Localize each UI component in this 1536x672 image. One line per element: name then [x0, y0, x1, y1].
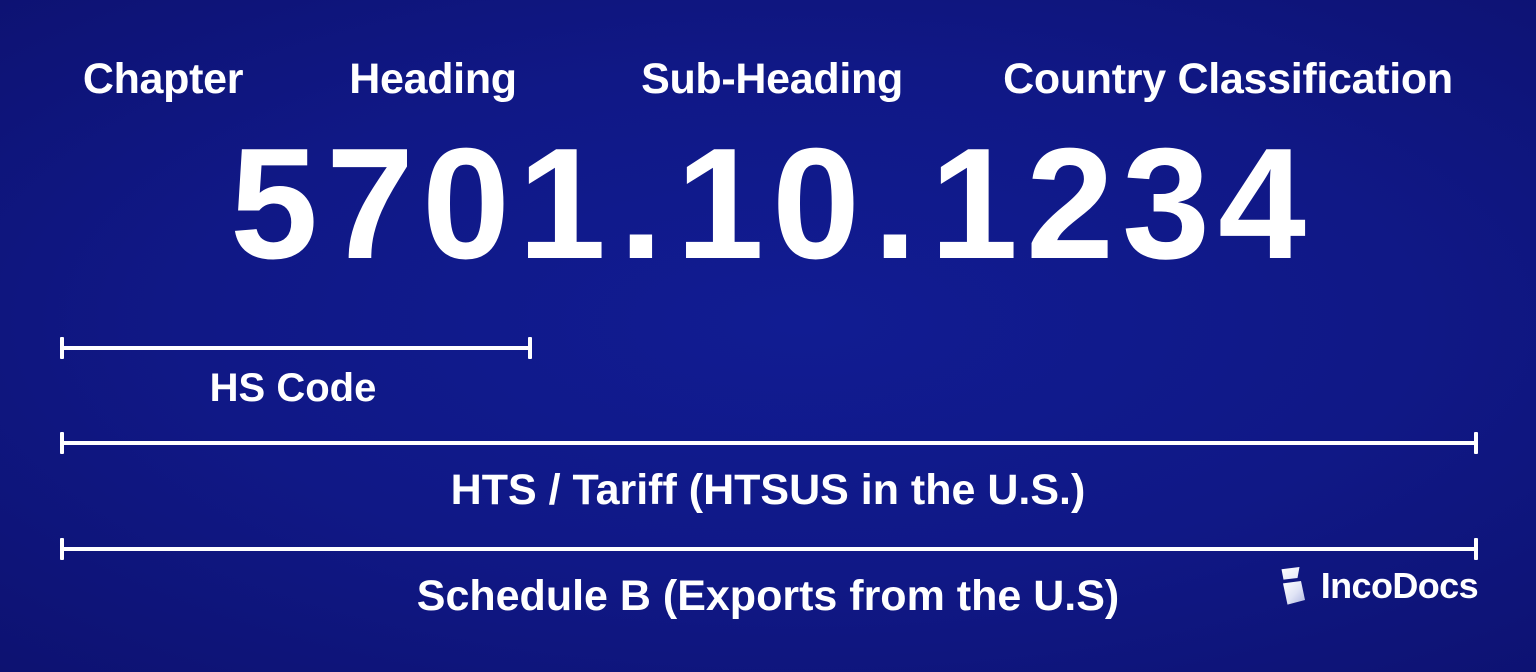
bracket-bar: [60, 547, 1478, 551]
incodocs-document-icon: [1278, 566, 1312, 606]
code-char-9: 3: [1118, 124, 1214, 284]
code-separator-1: .: [610, 124, 672, 284]
hs-code-number: 5 7 0 1 . 1 0 . 1 2 3 4: [0, 124, 1536, 284]
bracket-bar: [60, 441, 1478, 445]
bracket-caption-hs-code: HS Code: [210, 362, 377, 414]
bracket-hts-tariff: [60, 432, 1478, 454]
incodocs-logo-text: IncoDocs: [1321, 566, 1478, 606]
hs-code-infographic: Chapter Heading Sub-Heading Country Clas…: [0, 0, 1536, 672]
bracket-hs-code: [60, 337, 532, 359]
bracket-cap-right: [1474, 538, 1478, 560]
bracket-caption-schedule-b: Schedule B (Exports from the U.S): [417, 568, 1119, 624]
segment-label-country-classification: Country Classification: [1003, 44, 1453, 114]
code-char-2: 7: [322, 124, 418, 284]
code-separator-2: .: [864, 124, 926, 284]
code-char-6: 0: [768, 124, 864, 284]
incodocs-logo: IncoDocs: [1278, 566, 1478, 606]
bracket-cap-right: [1474, 432, 1478, 454]
bracket-cap-right: [528, 337, 532, 359]
code-char-3: 0: [418, 124, 514, 284]
bracket-caption-hts-tariff: HTS / Tariff (HTSUS in the U.S.): [451, 462, 1086, 518]
bracket-bar: [60, 346, 532, 350]
code-char-7: 1: [926, 124, 1022, 284]
code-char-8: 2: [1022, 124, 1118, 284]
segment-label-sub-heading: Sub-Heading: [641, 44, 903, 114]
segment-label-heading: Heading: [349, 44, 517, 114]
code-char-10: 4: [1214, 124, 1310, 284]
code-char-1: 5: [226, 124, 322, 284]
code-char-5: 1: [672, 124, 768, 284]
code-char-4: 1: [514, 124, 610, 284]
segment-label-row: Chapter Heading Sub-Heading Country Clas…: [0, 44, 1536, 114]
bracket-schedule-b: [60, 538, 1478, 560]
segment-label-chapter: Chapter: [83, 44, 243, 114]
